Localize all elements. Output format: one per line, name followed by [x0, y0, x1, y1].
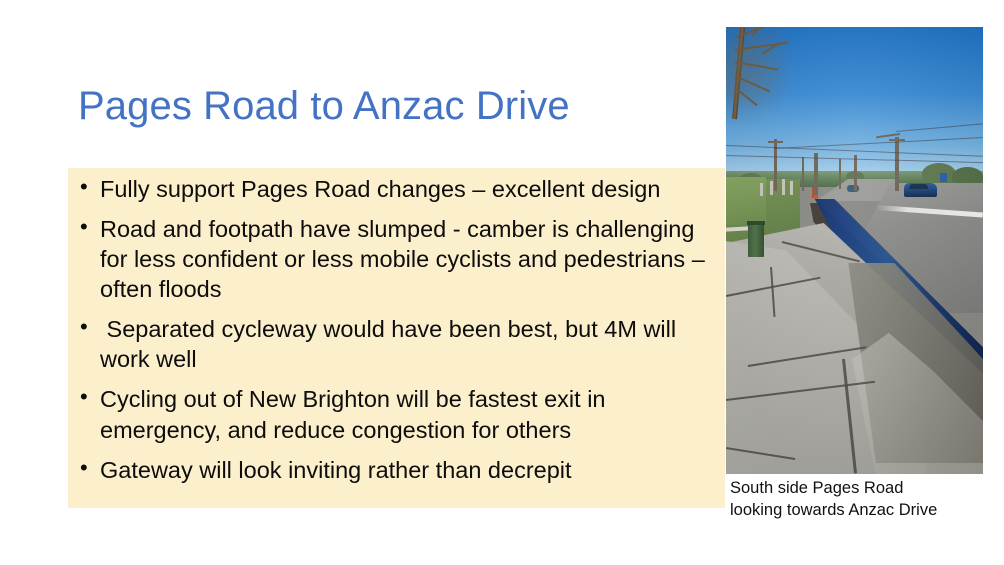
photo-fence-post — [760, 183, 763, 196]
photo-roadside-sign — [940, 173, 947, 182]
photo-tree-canopy — [726, 27, 802, 123]
list-item: Separated cycleway would have been best,… — [74, 314, 722, 374]
list-item: Road and footpath have slumped - camber … — [74, 214, 722, 304]
bullet-list: Fully support Pages Road changes – excel… — [74, 174, 722, 485]
list-item: Cycling out of New Brighton will be fast… — [74, 384, 722, 444]
photo-fence-post — [790, 181, 793, 195]
photo-caption-line-1: South side Pages Road — [730, 478, 992, 500]
photo-utility-cabinet — [748, 223, 764, 257]
page-title: Pages Road to Anzac Drive — [78, 83, 698, 129]
photo-fence-post — [782, 179, 785, 195]
photo-caption-line-2: looking towards Anzac Drive — [730, 500, 992, 522]
photo-power-pole — [802, 157, 804, 191]
photo-power-pole — [854, 155, 857, 191]
photo-utility-cabinet-top — [747, 221, 765, 225]
photo-power-pole — [895, 137, 899, 191]
photo-blue-car-window — [909, 184, 928, 189]
photo-power-pole — [839, 159, 841, 189]
list-item: Fully support Pages Road changes – excel… — [74, 174, 722, 204]
presentation-slide: Pages Road to Anzac Drive Fully support … — [0, 0, 1004, 565]
bullet-panel: Fully support Pages Road changes – excel… — [68, 168, 725, 508]
photo-caption: South side Pages Road looking towards An… — [730, 478, 992, 522]
photo-distant-car — [847, 185, 859, 192]
list-item: Gateway will look inviting rather than d… — [74, 455, 722, 485]
road-photograph — [726, 27, 983, 474]
photo-fence-post — [770, 181, 773, 195]
photo-distant-tree — [922, 163, 956, 185]
photo-power-pole — [814, 153, 818, 195]
photo-pole-crossarm — [768, 141, 783, 143]
